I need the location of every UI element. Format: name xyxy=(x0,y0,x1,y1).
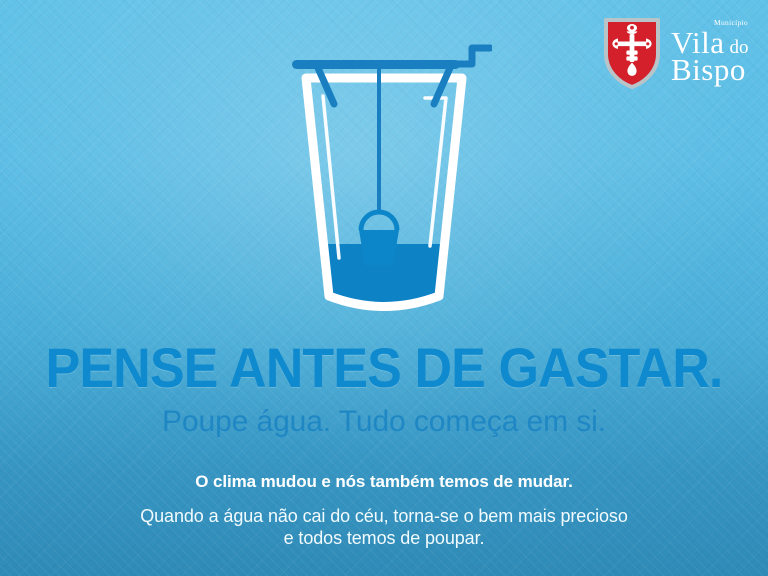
glass-well-graphic xyxy=(276,34,492,324)
subtitle: Poupe água. Tudo começa em si. xyxy=(0,405,768,439)
logo-name-bispo: Bispo xyxy=(671,54,749,85)
poster-canvas: Município Vila do Bispo xyxy=(0,0,768,576)
page-title: PENSE ANTES DE GASTAR. xyxy=(27,340,741,396)
shield-icon xyxy=(602,14,662,90)
body-text: Quando a água não cai do céu, torna-se o… xyxy=(0,505,768,549)
body-text-line-1: Quando a água não cai do céu, torna-se o… xyxy=(0,505,768,527)
water-well-glass-illustration xyxy=(276,34,492,324)
logo-wordmark: Município Vila do Bispo xyxy=(671,20,749,85)
logo-kicker: Município xyxy=(714,19,748,27)
well-beam xyxy=(292,60,460,69)
bucket-handle xyxy=(361,212,397,230)
bucket-body xyxy=(359,230,399,266)
body-emphasis: O clima mudou e nós também temos de muda… xyxy=(0,472,768,492)
municipality-logo: Município Vila do Bispo xyxy=(602,14,749,90)
body-text-line-2: e todos temos de poupar. xyxy=(0,527,768,549)
well-crank-handle xyxy=(454,48,490,64)
well-leg-left xyxy=(318,68,334,104)
